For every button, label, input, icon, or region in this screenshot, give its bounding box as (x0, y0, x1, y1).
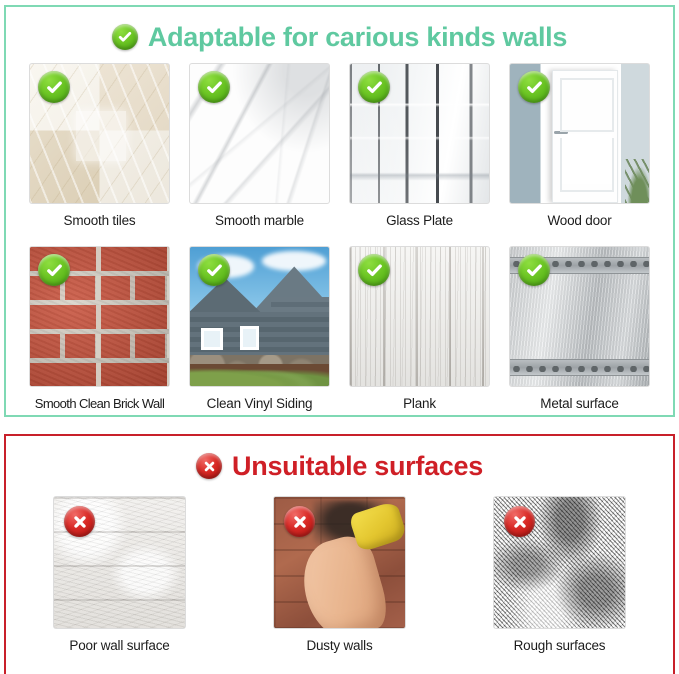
door-panel-decor (560, 138, 614, 192)
infographic-page: Adaptable for carious kinds walls Smooth… (0, 0, 679, 674)
door-handle-decor (554, 131, 568, 134)
surface-thumbnail-glass-plate (349, 63, 490, 204)
check-circle-icon (38, 71, 70, 103)
surface-card[interactable]: Poor wall surface (53, 496, 186, 653)
x-circle-icon (64, 506, 95, 537)
surface-thumbnail-brick-wall (29, 246, 170, 387)
suitable-section-title: Adaptable for carious kinds walls (148, 22, 567, 53)
surface-card[interactable]: Plank (349, 246, 490, 411)
check-circle-icon (518, 71, 550, 103)
surface-card-label: Smooth tiles (29, 213, 170, 228)
check-circle-icon (358, 254, 390, 286)
surface-thumbnail-wood-door (509, 63, 650, 204)
suitable-grid-row-2: Smooth Clean Brick Wall (6, 246, 673, 411)
unsuitable-surfaces-section: Unsuitable surfaces Poor wall surface (4, 434, 675, 674)
check-circle-icon (358, 71, 390, 103)
window-decor (201, 328, 223, 350)
rivet-row-decor (510, 366, 649, 372)
surface-card[interactable]: Metal surface (509, 246, 650, 411)
plant-decor (625, 159, 649, 203)
check-circle-icon (198, 254, 230, 286)
surface-card-label: Dusty walls (273, 638, 406, 653)
surface-card[interactable]: Clean Vinyl Siding (189, 246, 330, 411)
surface-thumbnail-smooth-tiles (29, 63, 170, 204)
suitable-grid-row-1: Smooth tiles Smooth marble (6, 63, 673, 228)
surface-card[interactable]: Wood door (509, 63, 650, 228)
x-circle-icon (196, 453, 222, 479)
surface-thumbnail-metal-surface (509, 246, 650, 387)
surface-card[interactable]: Smooth tiles (29, 63, 170, 228)
surface-card[interactable]: Smooth marble (189, 63, 330, 228)
surface-card[interactable]: Rough surfaces (493, 496, 626, 653)
surface-card-label: Glass Plate (349, 213, 490, 228)
shrub-decor (190, 364, 329, 386)
check-circle-icon (112, 24, 138, 50)
x-circle-icon (284, 506, 315, 537)
surface-card[interactable]: Smooth Clean Brick Wall (29, 246, 170, 411)
surface-thumbnail-rough-surfaces (493, 496, 626, 629)
check-circle-icon (198, 71, 230, 103)
suitable-surfaces-section: Adaptable for carious kinds walls Smooth… (4, 5, 675, 417)
surface-thumbnail-plank (349, 246, 490, 387)
surface-thumbnail-vinyl-siding (189, 246, 330, 387)
unsuitable-section-title: Unsuitable surfaces (232, 451, 483, 482)
surface-card-label: Poor wall surface (53, 638, 186, 653)
surface-card-label: Rough surfaces (493, 638, 626, 653)
surface-thumbnail-dusty-walls (273, 496, 406, 629)
surface-card[interactable]: Glass Plate (349, 63, 490, 228)
unsuitable-grid: Poor wall surface Dusty walls (6, 492, 673, 653)
unsuitable-section-header: Unsuitable surfaces (6, 440, 673, 492)
check-circle-icon (38, 254, 70, 286)
surface-card-label: Metal surface (509, 396, 650, 411)
surface-thumbnail-smooth-marble (189, 63, 330, 204)
surface-card-label: Clean Vinyl Siding (189, 396, 330, 411)
surface-card[interactable]: Dusty walls (273, 496, 406, 653)
surface-thumbnail-poor-wall (53, 496, 186, 629)
suitable-section-header: Adaptable for carious kinds walls (6, 11, 673, 63)
surface-card-label: Smooth Clean Brick Wall (29, 396, 170, 411)
x-circle-icon (504, 506, 535, 537)
surface-card-label: Plank (349, 396, 490, 411)
surface-card-label: Smooth marble (189, 213, 330, 228)
window-decor (240, 326, 259, 350)
surface-card-label: Wood door (509, 213, 650, 228)
check-circle-icon (518, 254, 550, 286)
